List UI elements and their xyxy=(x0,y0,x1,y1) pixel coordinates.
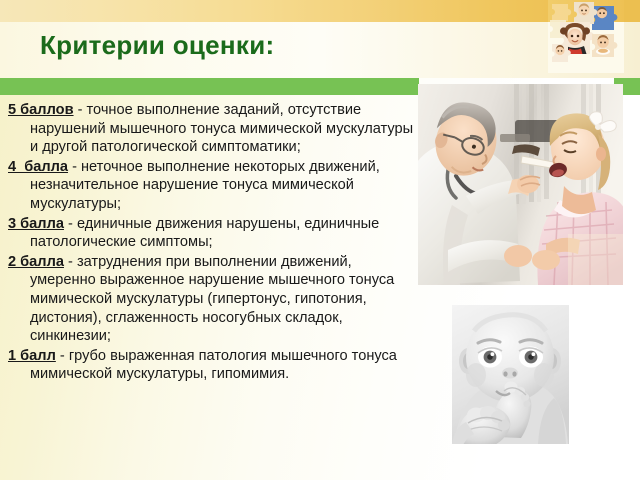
criterion-description: - точное выполнение заданий, отсутствие … xyxy=(30,102,413,155)
criterion-description: - грубо выраженная патология мышечного т… xyxy=(30,348,397,383)
page-title: Критерии оценки: xyxy=(40,30,274,61)
doctor-examining-child-throat-photo xyxy=(418,84,623,285)
criterion-item: 5 баллов - точное выполнение заданий, от… xyxy=(8,101,416,158)
baby-foot-in-mouth-grayscale-photo xyxy=(452,305,569,444)
criterion-score-label: 1 балл xyxy=(8,348,56,364)
criterion-description: - затруднения при выполнении движений, у… xyxy=(30,254,394,344)
criterion-score-label: 4 балла xyxy=(8,159,68,175)
criterion-description: - единичные движения нарушены, единичные… xyxy=(30,216,379,251)
criterion-score-label: 5 баллов xyxy=(8,102,74,118)
criterion-item: 1 балл - грубо выраженная патология мыше… xyxy=(8,347,416,385)
criterion-score-label: 2 балла xyxy=(8,254,64,270)
criteria-list: 5 баллов - точное выполнение заданий, от… xyxy=(8,101,416,385)
criterion-score-label: 3 балла xyxy=(8,216,64,232)
criterion-item: 3 балла - единичные движения нарушены, е… xyxy=(8,215,416,253)
green-divider-bar xyxy=(0,78,419,95)
criterion-description: - неточное выполнение некоторых движений… xyxy=(30,159,380,212)
criterion-item: 2 балла - затруднения при выполнении дви… xyxy=(8,253,416,347)
criterion-item: 4 балла - неточное выполнение некоторых … xyxy=(8,158,416,215)
children-puzzle-pieces-decoration-icon xyxy=(548,0,624,73)
slide: Критерии оценки: xyxy=(0,0,640,480)
top-gold-band xyxy=(0,0,640,22)
